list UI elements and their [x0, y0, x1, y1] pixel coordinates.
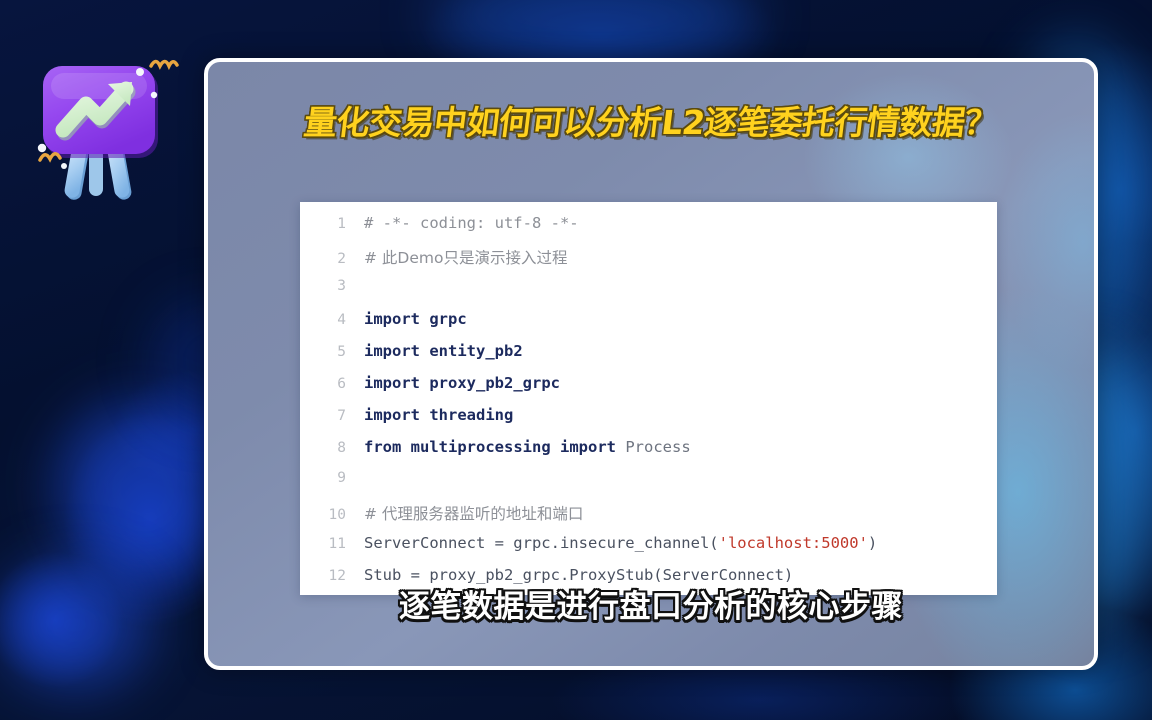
token-keyword: import — [364, 374, 420, 392]
line-number: 5 — [300, 344, 346, 360]
line-number: 7 — [300, 408, 346, 424]
token-plain: ServerConnect = grpc.insecure_channel( — [364, 534, 719, 552]
token-identifier: Process — [625, 438, 690, 456]
code-line: 10 # 代理服务器监听的地址和端口 — [300, 502, 997, 534]
code-line: 3 — [300, 278, 997, 310]
token-keyword: import — [364, 310, 420, 328]
code-line: 5 import entity_pb2 — [300, 342, 997, 374]
code-content: # 此Demo只是演示接入过程 — [346, 246, 567, 268]
line-number: 8 — [300, 440, 346, 456]
token-comment: # 代理服务器监听的地址和端口 — [364, 505, 583, 523]
code-line: 11 ServerConnect = grpc.insecure_channel… — [300, 534, 997, 566]
code-content: from multiprocessing import Process — [346, 438, 691, 456]
line-number: 3 — [300, 278, 346, 294]
code-content: import grpc — [346, 310, 467, 328]
token-module: grpc — [429, 310, 466, 328]
token-keyword: from — [364, 438, 401, 456]
code-content: ServerConnect = grpc.insecure_channel('l… — [346, 534, 877, 552]
token-string: 'localhost:5000' — [719, 534, 868, 552]
token-plain: ) — [868, 534, 877, 552]
code-line: 4 import grpc — [300, 310, 997, 342]
subtitle-caption: 逐笔数据是进行盘口分析的核心步骤 — [208, 581, 1094, 626]
code-line: 7 import threading — [300, 406, 997, 438]
code-line: 8 from multiprocessing import Process — [300, 438, 997, 470]
token-module: entity_pb2 — [429, 342, 522, 360]
line-number: 10 — [300, 507, 346, 523]
code-content: # 代理服务器监听的地址和端口 — [346, 502, 583, 524]
token-keyword: import — [364, 406, 420, 424]
token-module: threading — [429, 406, 513, 424]
line-number: 9 — [300, 470, 346, 486]
code-line: 6 import proxy_pb2_grpc — [300, 374, 997, 406]
token-module: multiprocessing — [411, 438, 551, 456]
code-line: 2 # 此Demo只是演示接入过程 — [300, 246, 997, 278]
code-content: # -*- coding: utf-8 -*- — [346, 214, 579, 232]
glow-streak-left-bottom — [0, 560, 150, 690]
token-keyword: import — [560, 438, 616, 456]
code-line: 9 — [300, 470, 997, 502]
token-comment: # 此Demo只是演示接入过程 — [364, 249, 567, 267]
line-number: 6 — [300, 376, 346, 392]
line-number: 1 — [300, 216, 346, 232]
page-title: 量化交易中如何可以分析L2逐笔委托行情数据？ — [205, 96, 1097, 144]
code-line: 1 # -*- coding: utf-8 -*- — [300, 214, 997, 246]
content-card: 量化交易中如何可以分析L2逐笔委托行情数据？ 1 # -*- coding: u… — [204, 58, 1098, 670]
token-keyword: import — [364, 342, 420, 360]
line-number: 2 — [300, 251, 346, 267]
line-number: 4 — [300, 312, 346, 328]
code-panel[interactable]: 1 # -*- coding: utf-8 -*- 2 # 此Demo只是演示接… — [300, 202, 997, 595]
code-content: import threading — [346, 406, 513, 424]
chart-board-logo-icon — [18, 48, 188, 218]
code-content: import proxy_pb2_grpc — [346, 374, 560, 392]
code-content: import entity_pb2 — [346, 342, 523, 360]
token-module: proxy_pb2_grpc — [429, 374, 560, 392]
token-comment: # -*- coding: utf-8 -*- — [364, 214, 579, 232]
line-number: 11 — [300, 536, 346, 552]
